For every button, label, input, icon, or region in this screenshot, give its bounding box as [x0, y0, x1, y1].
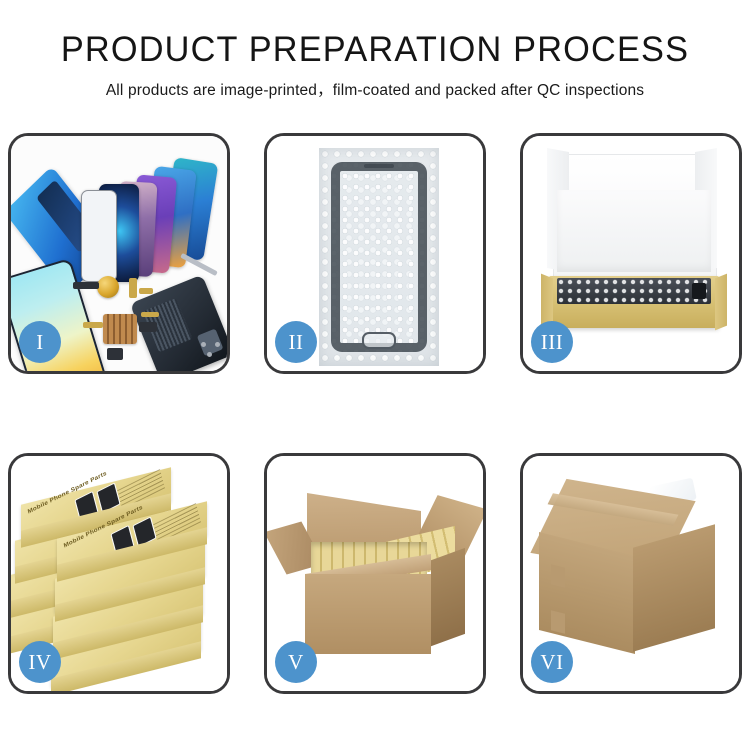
- coil-part: [97, 276, 119, 298]
- page-subtitle: All products are image-printed，film-coat…: [0, 78, 750, 100]
- page-header: PRODUCT PREPARATION PROCESS All products…: [0, 0, 750, 100]
- step-badge-4: IV: [19, 641, 61, 683]
- process-step-panel-4[interactable]: Mobile Phone Spare Parts Mobile Phone Sp…: [8, 453, 230, 694]
- process-step-panel-6[interactable]: VI: [520, 453, 742, 694]
- carton-front-face: [305, 574, 431, 654]
- carton-seam: [551, 610, 565, 633]
- process-step-panel-2[interactable]: II: [264, 133, 486, 374]
- carton-seam: [551, 564, 565, 587]
- step-badge-6: VI: [531, 641, 573, 683]
- page-title: PRODUCT PREPARATION PROCESS: [8, 32, 743, 69]
- circuit-board-part: [103, 314, 137, 344]
- process-step-panel-5[interactable]: V: [264, 453, 486, 694]
- flex-cable-part: [141, 312, 159, 317]
- step-badge-5: V: [275, 641, 317, 683]
- foam-insert: [557, 190, 711, 272]
- process-step-panel-3[interactable]: III: [520, 133, 742, 374]
- screw-part: [207, 352, 212, 357]
- flex-cable-part: [129, 278, 137, 298]
- step-badge-2: II: [275, 321, 317, 363]
- chip-part: [107, 348, 123, 360]
- carton-side-face: [431, 548, 465, 646]
- flex-cable-part: [139, 288, 153, 294]
- phone-screen-white: [81, 190, 117, 282]
- chip-part: [139, 322, 157, 332]
- home-button: [362, 332, 396, 349]
- screen-glass-panel: [331, 162, 427, 352]
- flex-cable-part: [83, 322, 103, 328]
- screw-part: [215, 342, 220, 347]
- chip-part: [73, 282, 99, 289]
- carton-side-face: [633, 524, 715, 652]
- screw-part: [201, 342, 206, 347]
- wrapped-screen-in-box: [557, 278, 711, 304]
- process-step-panel-1[interactable]: I: [8, 133, 230, 374]
- step-badge-1: I: [19, 321, 61, 363]
- step-badge-3: III: [531, 321, 573, 363]
- process-steps-grid: I II III: [8, 133, 742, 694]
